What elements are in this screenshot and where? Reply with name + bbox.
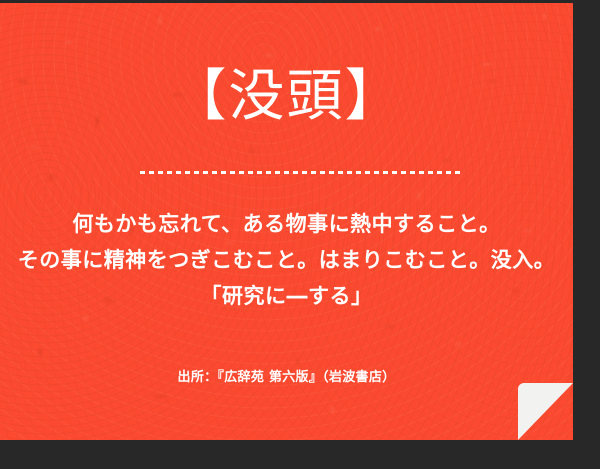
definition-line-1: 何もかも忘れて、ある物事に熱中すること。 xyxy=(0,206,573,242)
headword-title: 【没頭】 xyxy=(0,69,573,125)
definition-line-2: その事に精神をつぎこむこと。はまりこむこと。没入。 xyxy=(0,242,573,278)
definition-card: 【没頭】 何もかも忘れて、ある物事に熱中すること。 その事に精神をつぎこむこと。… xyxy=(0,3,573,440)
source-citation: 出所：『広辞苑 第六版』（岩波書店） xyxy=(0,366,573,385)
page-fold-corner-icon xyxy=(518,383,573,440)
dashed-divider xyxy=(140,171,460,174)
card-content: 【没頭】 何もかも忘れて、ある物事に熱中すること。 その事に精神をつぎこむこと。… xyxy=(0,3,573,440)
definition-line-3: 「研究に―する」 xyxy=(0,278,573,314)
definition-text: 何もかも忘れて、ある物事に熱中すること。 その事に精神をつぎこむこと。はまりこむ… xyxy=(0,206,573,314)
screenshot-stage: 【没頭】 何もかも忘れて、ある物事に熱中すること。 その事に精神をつぎこむこと。… xyxy=(0,0,600,469)
